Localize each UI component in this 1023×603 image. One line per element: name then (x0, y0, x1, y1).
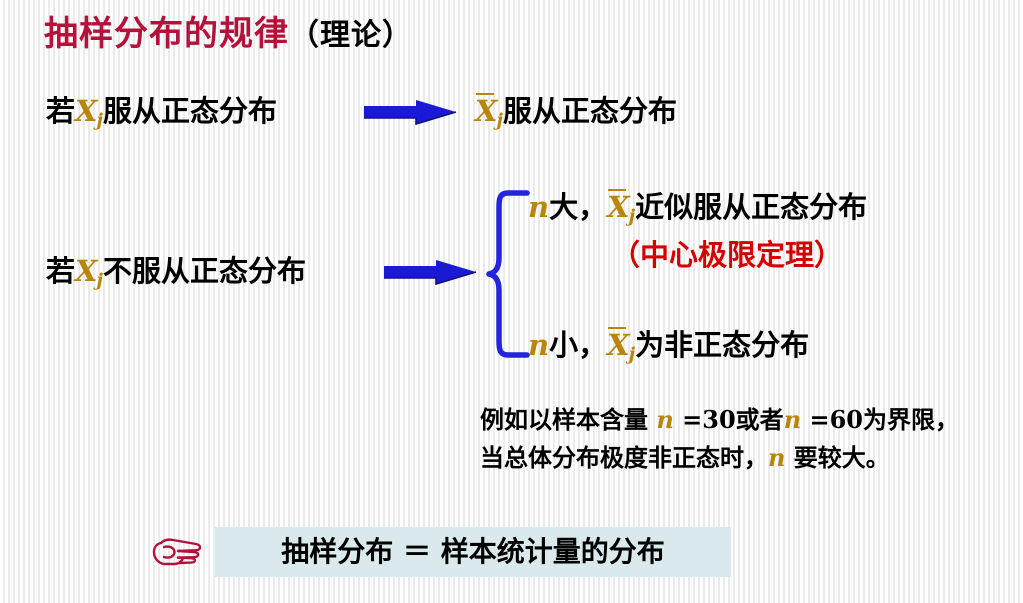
slide-canvas: 抽样分布的规律（理论） 若Xj服从正态分布 Xj服从正态分布 若Xj不服从正态分… (0, 0, 1023, 603)
row1-premise-suffix: 服从正态分布 (103, 94, 277, 128)
page-title-main: 抽样分布的规律 (44, 14, 289, 54)
example-line1-part-b: =30或者 (674, 405, 784, 434)
row1-conclusion-suffix: 服从正态分布 (503, 94, 677, 128)
row2-premise: 若Xj不服从正态分布 (46, 248, 306, 291)
row1-premise: 若Xj服从正态分布 (46, 88, 277, 131)
example-line2-n: n (768, 443, 785, 472)
central-limit-theorem-note: （中心极限定理） (524, 232, 930, 274)
branch-large-n-xbar: X (607, 188, 630, 224)
example-line2-part-a: 当总体分布极度非正态时， (480, 443, 768, 472)
row1-conclusion-variable: X (475, 94, 498, 128)
page-title-sub: （理论） (289, 18, 413, 53)
row2-premise-variable: X (75, 254, 98, 288)
branch-small-n-result-variable: X (607, 328, 630, 362)
row1-conclusion: Xj服从正态分布 (475, 88, 677, 131)
example-line1-part-c: =60为界限， (801, 405, 959, 434)
branch-small-n-xbar: X (607, 326, 630, 362)
branch-large-n-result-variable: X (607, 190, 630, 224)
example-note: 例如以样本含量 n =30或者n =60为界限， 当总体分布极度非正态时，n 要… (480, 401, 959, 477)
overbar-icon (608, 189, 626, 191)
example-line2-part-b: 要较大。 (785, 443, 889, 472)
row2-premise-prefix: 若 (46, 254, 75, 288)
branch-large-n-variable: n (528, 190, 549, 224)
conclusion-text: 抽样分布 ＝ 样本统计量的分布 (215, 527, 731, 577)
row1-conclusion-xbar: X (475, 92, 498, 128)
curly-brace-icon (486, 188, 532, 360)
branch-small-n-variable: n (528, 328, 549, 362)
branch-small-n-condition: 小， (549, 328, 607, 362)
branch-large-n-condition: 大， (549, 190, 607, 224)
overbar-icon (476, 93, 494, 95)
example-line1-n1: n (656, 405, 673, 434)
branch-large-n-result: 近似服从正态分布 (635, 190, 867, 224)
example-note-line-1: 例如以样本含量 n =30或者n =60为界限， (480, 401, 959, 439)
right-arrow-icon (362, 98, 458, 126)
row1-premise-variable: X (75, 94, 98, 128)
example-line1-n2: n (784, 405, 801, 434)
branch-large-n: n大，Xj近似服从正态分布 (528, 184, 867, 227)
branch-small-n: n小，Xj为非正态分布 (528, 322, 809, 365)
pointing-hand-icon (152, 533, 202, 569)
page-title: 抽样分布的规律（理论） (44, 6, 413, 55)
row2-premise-suffix: 不服从正态分布 (103, 254, 306, 288)
branch-small-n-result: 为非正态分布 (635, 328, 809, 362)
example-note-line-2: 当总体分布极度非正态时，n 要较大。 (480, 439, 959, 477)
row1-premise-prefix: 若 (46, 94, 75, 128)
overbar-icon (608, 327, 626, 329)
right-arrow-icon (382, 258, 478, 286)
example-line1-part-a: 例如以样本含量 (480, 405, 656, 434)
